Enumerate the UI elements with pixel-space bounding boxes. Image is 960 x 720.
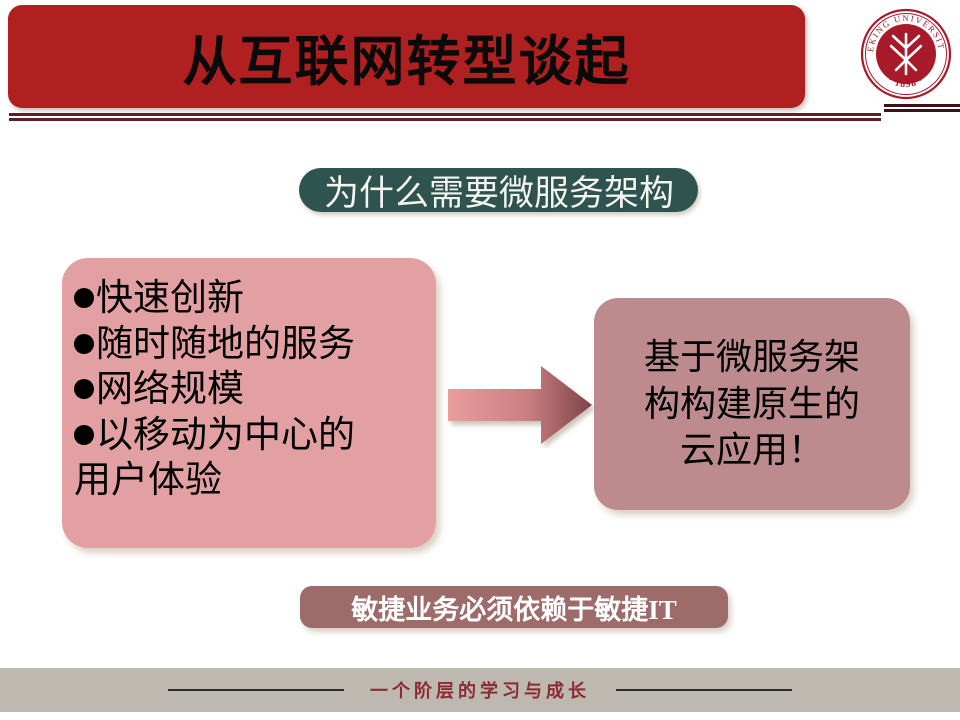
section-pill-label: 为什么需要微服务架构 (288, 163, 710, 217)
header-rule-right-bottom (884, 109, 960, 112)
list-item: 网络规模 (74, 367, 428, 413)
header-rule-right-top (884, 104, 960, 107)
outcome-line: 基于微服务架 (644, 334, 860, 381)
peking-university-seal-icon: PEKING UNIVERSITY · 1898 · (860, 8, 952, 100)
footer-rule-left (168, 689, 344, 691)
bullet-icon (74, 334, 94, 354)
outcome-line: 构构建原生的 (644, 381, 860, 428)
drivers-list: 快速创新 随时随地的服务 网络规模 以移动为中心的 用户体验 (62, 258, 436, 548)
bottom-banner-label: 敏捷业务必须依赖于敏捷IT (300, 586, 728, 628)
bullet-icon (74, 379, 94, 399)
outcome-line: 云应用！ (680, 427, 824, 474)
footer-baseline (0, 712, 960, 720)
bullet-icon (74, 288, 94, 308)
outcome-text: 基于微服务架 构构建原生的 云应用！ (594, 298, 910, 510)
footer-label: 一个阶层的学习与成长 (370, 677, 590, 703)
footer-rule-right (616, 689, 792, 691)
header-rule-bottom (9, 118, 881, 121)
footer: 一个阶层的学习与成长 (0, 668, 960, 712)
list-item-label: 快速创新 (96, 278, 244, 319)
list-item-label: 随时随地的服务 (96, 324, 355, 365)
slide-canvas: 从互联网转型谈起 PEKING UNIVERSIT (0, 0, 960, 720)
list-item: 随时随地的服务 (74, 322, 428, 368)
list-item-label: 网络规模 (96, 369, 244, 410)
page-title: 从互联网转型谈起 (8, 5, 805, 108)
bullet-icon (74, 425, 94, 445)
list-item: 以移动为中心的 (74, 413, 428, 459)
header-rule-top (9, 113, 881, 116)
list-item-label: 以移动为中心的 (96, 415, 355, 456)
list-item-continuation: 用户体验 (74, 458, 428, 504)
right-arrow-icon (446, 362, 594, 448)
list-item: 快速创新 (74, 276, 428, 322)
